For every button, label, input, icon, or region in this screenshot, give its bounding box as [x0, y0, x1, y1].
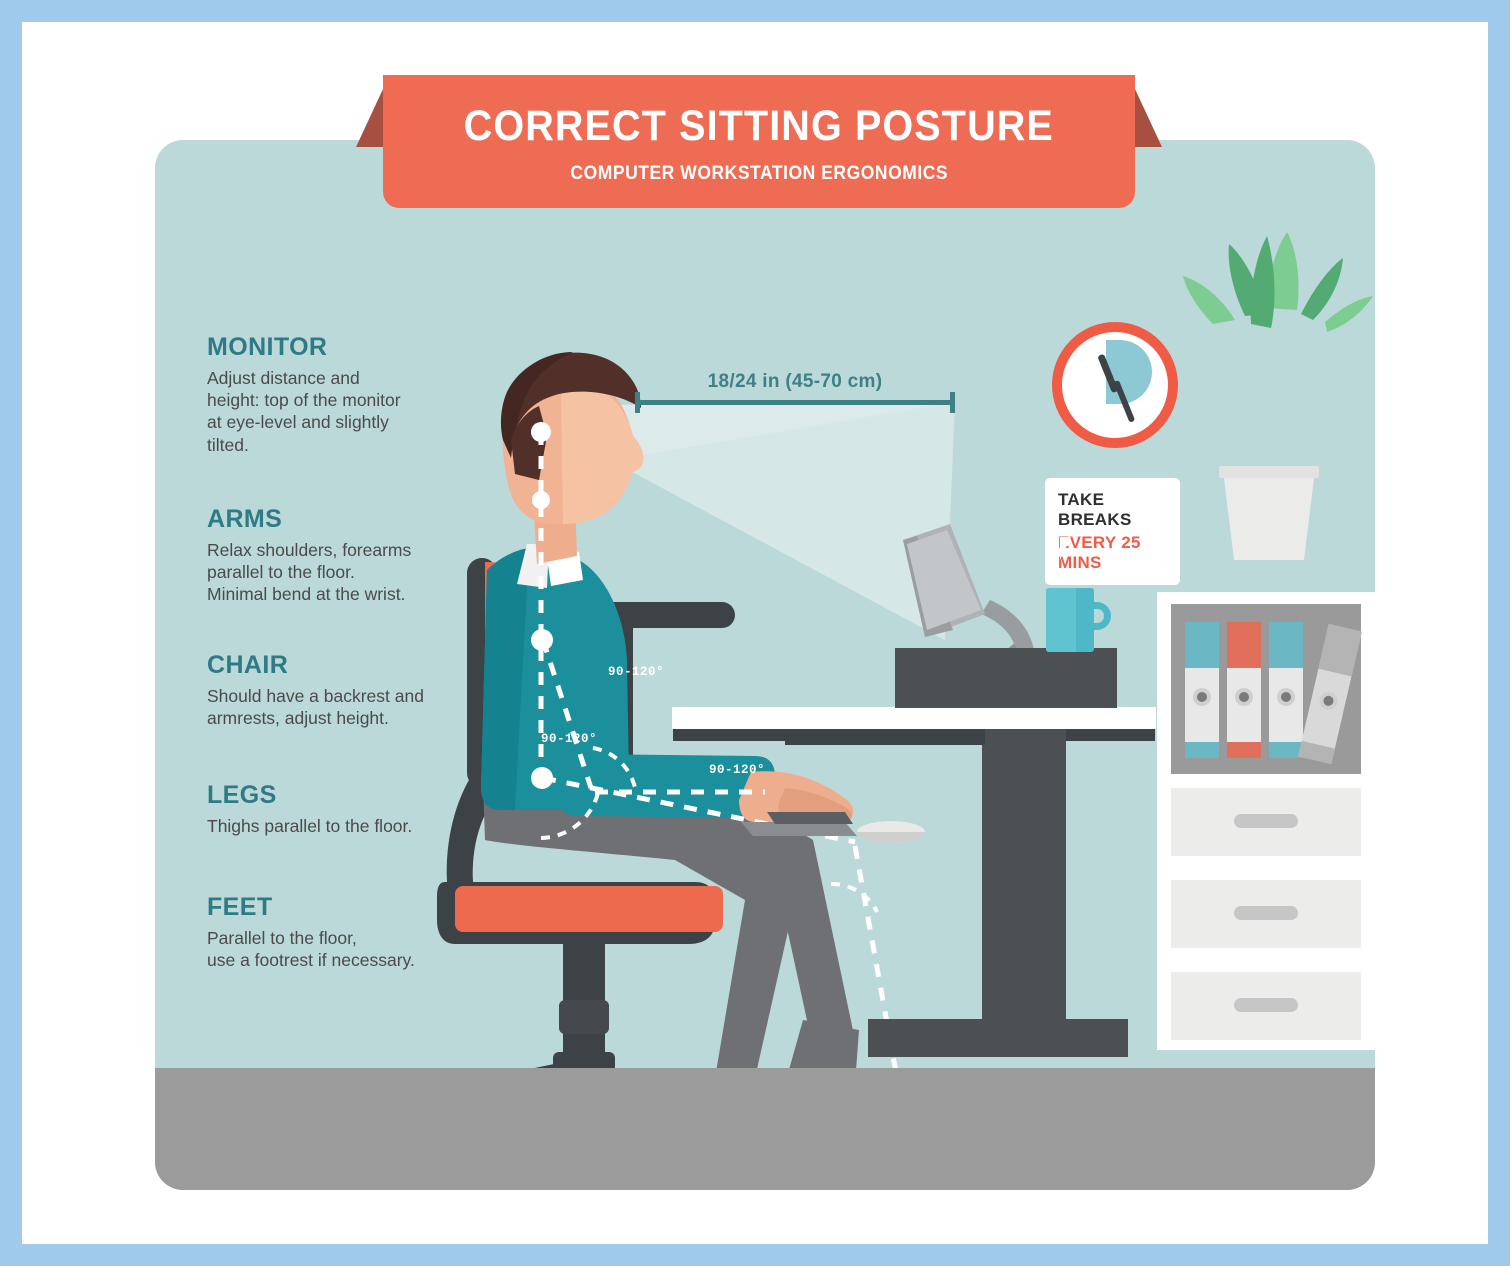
knee-angle-arc [831, 884, 877, 912]
mouse-icon [857, 821, 925, 843]
callout-line-1: TAKE BREAKS [1058, 490, 1170, 530]
tip-body: Adjust distance and height: top of the m… [207, 367, 401, 456]
binder-bottom [1227, 742, 1261, 758]
measurement-bar-icon: 18/24 in (45-70 cm) [635, 373, 955, 405]
seated-person-icon [481, 352, 925, 1162]
tip-heading: ARMS [207, 505, 411, 534]
sight-line-cone [607, 402, 955, 640]
binder-ring-icon [1318, 690, 1340, 712]
tip-legs: LEGS Thighs parallel to the floor. [207, 781, 412, 837]
binder-ring-icon [1193, 688, 1211, 706]
binder-bottom [1185, 742, 1219, 758]
banner-fold-right [1135, 89, 1162, 147]
measurement-label: 18/24 in (45-70 cm) [635, 371, 955, 393]
tip-heading: LEGS [207, 781, 412, 810]
plant-icon [1183, 232, 1373, 332]
tip-body: Thighs parallel to the floor. [207, 815, 412, 837]
joint-dot-hip [531, 767, 553, 789]
binder-icon [1269, 622, 1303, 758]
posture-guide-lines [541, 432, 897, 1078]
desk-leg [982, 729, 1066, 1019]
floor [155, 1068, 1375, 1190]
tip-body: Parallel to the floor, use a footrest if… [207, 927, 415, 971]
clock-icon [1052, 322, 1178, 448]
measurement-cap-right [950, 392, 955, 413]
tip-feet: FEET Parallel to the floor, use a footre… [207, 893, 415, 971]
binder-top [1185, 622, 1219, 668]
binder-top [1269, 622, 1303, 668]
knee-angle-label: 90-120° [709, 763, 765, 777]
hip-angle-label: 90-120° [541, 732, 597, 746]
mug-handle [1089, 602, 1111, 630]
joint-dot-shoulder [531, 629, 553, 651]
binder-ring-icon [1235, 688, 1253, 706]
shelf-unit [1157, 592, 1375, 1050]
desk-top [672, 707, 1156, 729]
joint-dot-head [531, 422, 551, 442]
sight-line-cone-shade [607, 402, 955, 460]
tip-body: Relax shoulders, forearms parallel to th… [207, 539, 411, 606]
banner-body: CORRECT SITTING POSTURE COMPUTER WORKSTA… [383, 75, 1135, 208]
drawer-handle[interactable] [1234, 998, 1298, 1012]
hip-angle-arc [541, 788, 599, 838]
title-banner: CORRECT SITTING POSTURE COMPUTER WORKSTA… [383, 75, 1135, 208]
callout-tail [1060, 537, 1071, 560]
clock-wedge [1106, 340, 1152, 404]
drawer-icon[interactable] [1171, 788, 1361, 856]
tip-monitor: MONITOR Adjust distance and height: top … [207, 333, 401, 456]
binder-top [1227, 622, 1261, 668]
desk-apron [785, 729, 985, 745]
scene-panel: 18/24 in (45-70 cm) 90-120° 90-120° 90-1… [155, 140, 1375, 1190]
banner-fold-left [356, 89, 383, 147]
elbow-angle-label: 90-120° [608, 665, 664, 679]
drawer-handle[interactable] [1234, 814, 1298, 828]
measurement-cap-left [635, 392, 640, 413]
mug-highlight [1046, 588, 1076, 652]
tip-heading: FEET [207, 893, 415, 922]
binder-icon [1227, 622, 1261, 758]
binder-ring-icon [1277, 688, 1295, 706]
binder-icon [1185, 622, 1219, 758]
keyboard-icon [741, 812, 857, 836]
desk-foot [868, 1019, 1128, 1057]
joint-dot-neck [532, 491, 550, 509]
binder-bottom [1298, 741, 1335, 764]
binder-top [1318, 624, 1361, 676]
tip-heading: MONITOR [207, 333, 401, 362]
tip-arms: ARMS Relax shoulders, forearms parallel … [207, 505, 411, 606]
measurement-line [635, 400, 955, 405]
callout-line-2: EVERY 25 MINS [1058, 533, 1170, 573]
drawer-icon[interactable] [1171, 972, 1361, 1040]
tip-chair: CHAIR Should have a backrest and armrest… [207, 651, 457, 729]
take-breaks-callout: TAKE BREAKS EVERY 25 MINS [1045, 478, 1180, 585]
binder-shelf [1171, 604, 1361, 774]
plant-pot-rim [1219, 466, 1319, 478]
tip-heading: CHAIR [207, 651, 457, 680]
elbow-angle-arc [593, 748, 635, 788]
page-title: CORRECT SITTING POSTURE [464, 102, 1054, 151]
drawer-handle[interactable] [1234, 906, 1298, 920]
infographic-root: 18/24 in (45-70 cm) 90-120° 90-120° 90-1… [0, 0, 1510, 1266]
tip-body: Should have a backrest and armrests, adj… [207, 685, 457, 729]
desk-riser [895, 648, 1117, 708]
plant-pot-body [1223, 470, 1315, 560]
page-subtitle: COMPUTER WORKSTATION ERGONOMICS [570, 163, 948, 185]
drawer-icon[interactable] [1171, 880, 1361, 948]
binder-icon [1298, 624, 1362, 764]
